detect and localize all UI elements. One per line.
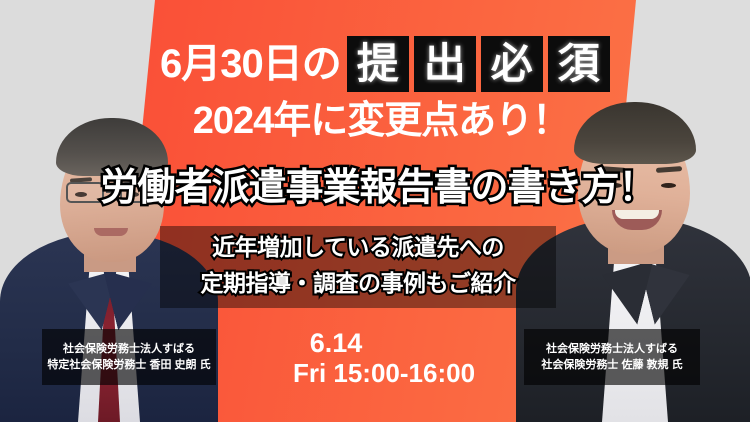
emphasis-kanji-boxes: 提 出 必 須 bbox=[347, 36, 610, 92]
headline-line-2: 2024年に変更点あり！ bbox=[0, 100, 750, 144]
kanji-box-2: 出 bbox=[414, 36, 476, 92]
right-speaker-firm: 社会保険労務士法人すばる bbox=[546, 341, 678, 358]
headline-line-1: 6月30日の 提 出 必 須 bbox=[160, 36, 610, 92]
left-speaker-name: 特定社会保険労務士 香田 史朗 氏 bbox=[47, 357, 210, 374]
subtitle-text: 近年増加している派遣先への 定期指導・調査の事例もご紹介 bbox=[160, 229, 556, 302]
kanji-box-3: 必 bbox=[481, 36, 543, 92]
headline-deadline-text: 6月30日の bbox=[160, 44, 341, 84]
speaker-nameplate-right: 社会保険労務士法人すばる 社会保険労務士 佐藤 敦規 氏 bbox=[524, 329, 700, 385]
kanji-box-4: 須 bbox=[548, 36, 610, 92]
page-title: 労働者派遣事業報告書の書き方！ bbox=[0, 166, 750, 212]
left-speaker-firm: 社会保険労務士法人すばる bbox=[63, 341, 195, 358]
subtitle-line-2: 定期指導・調査の事例もご紹介 bbox=[160, 265, 556, 301]
left-mouth bbox=[94, 228, 128, 236]
subtitle-line-1: 近年増加している派遣先への bbox=[160, 229, 556, 265]
webinar-banner: 6月30日の 提 出 必 須 2024年に変更点あり！ 労働者派遣事業報告書の書… bbox=[0, 0, 750, 422]
speaker-nameplate-left: 社会保険労務士法人すばる 特定社会保険労務士 香田 史朗 氏 bbox=[42, 329, 216, 385]
right-speaker-name: 社会保険労務士 佐藤 敦規 氏 bbox=[541, 357, 682, 374]
kanji-box-1: 提 bbox=[347, 36, 409, 92]
